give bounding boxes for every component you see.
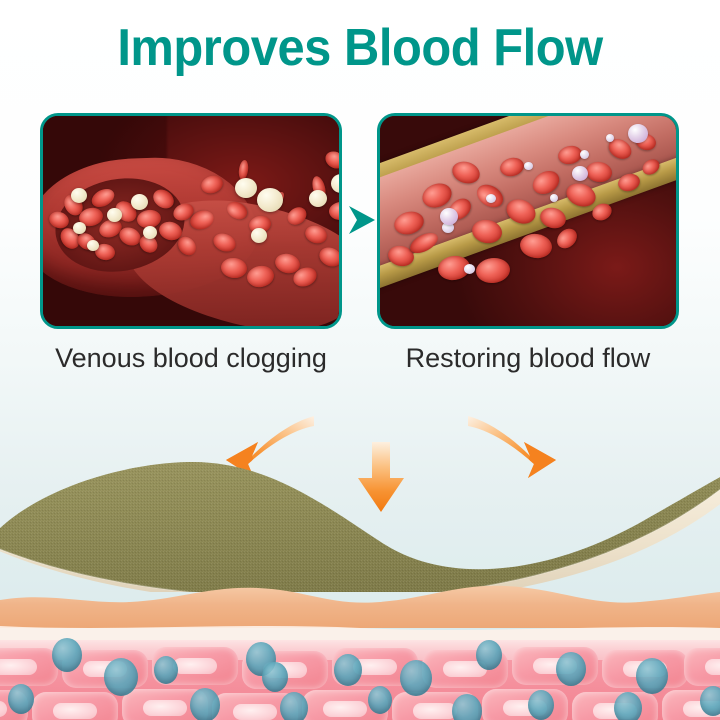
clogged-vessel-illustration (43, 116, 339, 326)
healthy-vessel-illustration (380, 116, 676, 326)
infographic-stage: Improves Blood Flow (0, 0, 720, 720)
comparison-panel-clogged (40, 113, 342, 329)
comparison-panel-restored (377, 113, 679, 329)
page-title: Improves Blood Flow (22, 18, 699, 78)
skin-cross-section (0, 582, 720, 720)
caption-restored: Restoring blood flow (373, 343, 683, 374)
caption-clogged: Venous blood clogging (36, 343, 346, 374)
skin-cell-layer (0, 646, 720, 720)
chevron-right-icon (345, 202, 379, 238)
curved-patch (0, 452, 720, 592)
